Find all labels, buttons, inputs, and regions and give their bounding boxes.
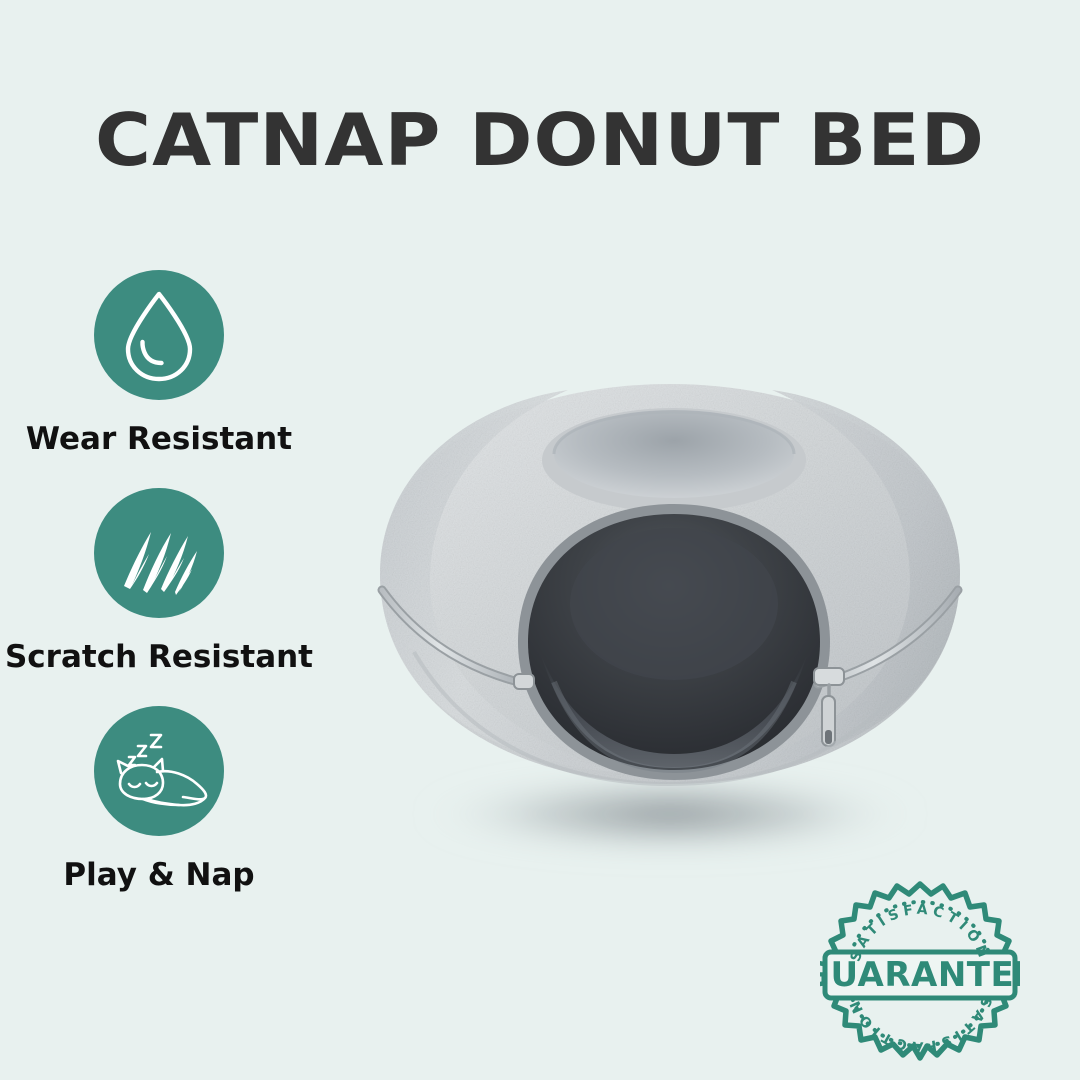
sleeping-cat-icon (94, 706, 224, 836)
tunnel-opening (518, 504, 830, 780)
feature-item-wear-resistant: Wear Resistant (0, 270, 318, 456)
claw-marks-icon (94, 488, 224, 618)
feature-label: Wear Resistant (0, 422, 318, 456)
feature-label: Scratch Resistant (0, 640, 318, 674)
feature-item-play-nap: Play & Nap (0, 706, 318, 892)
feature-label: Play & Nap (0, 858, 318, 892)
satisfaction-guarantee-badge: GUARANTEE SATISFACTION SATISFACTION (820, 878, 1020, 1068)
donut-cat-bed-photo (318, 352, 1018, 912)
page-title: CATNAP DONUT BED (0, 98, 1080, 182)
feature-list: Wear Resistant Scratch Resistant (0, 270, 318, 924)
feature-item-scratch-resistant: Scratch Resistant (0, 488, 318, 674)
water-drop-icon (94, 270, 224, 400)
donut-top-hole (542, 408, 806, 512)
zipper-stop-left (514, 674, 534, 689)
badge-banner-text: GUARANTEE (820, 955, 1020, 995)
product-marketing-image: CATNAP DONUT BED Wear Resistant (0, 0, 1080, 1080)
